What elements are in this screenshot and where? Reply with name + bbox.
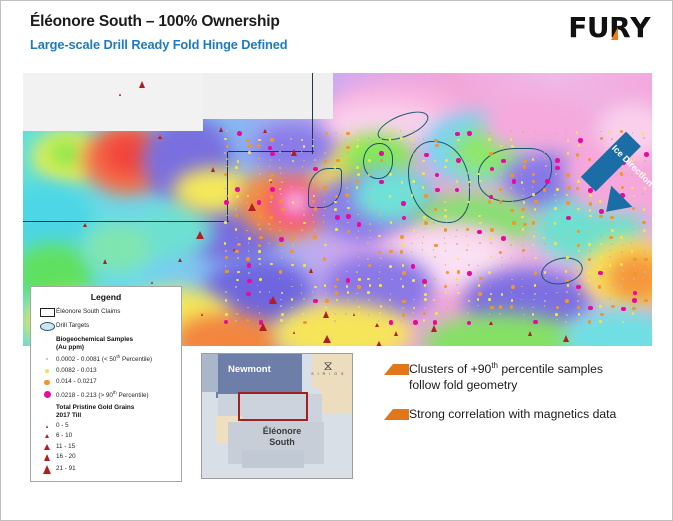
legend-label-claims: Éléonore South Claims: [56, 309, 120, 315]
legend-heading-grains: Total Pristine Gold Grains 2017 Till: [56, 404, 174, 420]
logo-text-r-wrap: R: [609, 14, 630, 42]
slide-root: Éléonore South – 100% Ownership Large-sc…: [0, 0, 673, 521]
legend-row-biogeo-2: 0.014 - 0.0217: [38, 379, 174, 385]
legend-label-drill-targets: Drill Targets: [56, 323, 89, 329]
bullet-1-part3: follow fold geometry: [409, 378, 517, 392]
till-sample-triangle: [309, 268, 313, 273]
till-sample-triangle: [269, 296, 277, 304]
sirios-logo-name: S I R I O S: [311, 372, 345, 376]
page-title: Éléonore South – 100% Ownership: [30, 13, 280, 31]
gold-grain-triangle-icon: [38, 454, 56, 461]
inset-block-left: [202, 354, 218, 392]
bullet-text-1: Clusters of +90th percentile samplesfoll…: [409, 361, 603, 393]
list-item: Strong correlation with magnetics data: [384, 406, 656, 422]
list-item: Clusters of +90th percentile samplesfoll…: [384, 361, 656, 393]
legend-label-biogeo-0: 0.0002 - 0.0081 (< 50th Percentile): [56, 355, 152, 363]
till-sample-triangle: [259, 323, 267, 331]
inset-label-eleonore-south: Éléonore South: [250, 426, 314, 449]
map-legend: Legend Éléonore South Claims Drill Targe…: [30, 286, 182, 482]
till-sample-triangle: [196, 231, 204, 239]
legend-label-grains-4: 21 - 91: [56, 466, 76, 472]
gold-grain-triangle-icon: [38, 425, 56, 428]
inset-block-grey-bottom: [242, 450, 304, 468]
key-points-list: Clusters of +90th percentile samplesfoll…: [384, 361, 656, 435]
legend-heading-biogeo-line2: (Au ppm): [56, 344, 174, 352]
till-sample-triangle: [139, 81, 145, 88]
till-sample-triangle: [151, 281, 153, 284]
till-sample-triangle: [263, 129, 267, 133]
till-sample-triangle: [158, 135, 162, 139]
bullet-text-2: Strong correlation with magnetics data: [409, 406, 616, 422]
bullet-1-superscript: th: [491, 361, 498, 370]
till-sample-triangle: [248, 203, 256, 211]
sirios-logo: ⧖ S I R I O S: [311, 360, 345, 376]
bullet-marker-icon: [384, 364, 409, 375]
legend-row-drill-targets: Drill Targets: [38, 322, 174, 331]
legend-row-grains-1: 6 - 10: [38, 433, 174, 439]
logo-text-fu: FU: [568, 11, 609, 44]
till-sample-triangle: [489, 321, 493, 325]
legend-heading-grains-line2: 2017 Till: [56, 412, 174, 420]
inset-label-south: South: [250, 437, 314, 448]
till-sample-triangle: [83, 223, 87, 227]
bullet-marker-icon: [384, 409, 409, 420]
claims-symbol-icon: [38, 308, 56, 317]
logo-accent-triangle-icon: [611, 27, 618, 40]
gold-grain-triangle-icon: [38, 434, 56, 438]
legend-label-grains-2: 11 - 15: [56, 444, 75, 450]
inset-block-sand-right2: [320, 388, 353, 414]
till-sample-triangle: [431, 325, 437, 332]
gold-grain-triangle-icon: [38, 465, 56, 474]
inset-label-newmont: Newmont: [228, 364, 271, 375]
legend-row-claims: Éléonore South Claims: [38, 308, 174, 317]
legend-label-biogeo-2: 0.014 - 0.0217: [56, 379, 97, 385]
till-sample-triangle: [353, 313, 355, 316]
gold-grain-triangle-icon: [38, 444, 56, 450]
logo-text-y: Y: [630, 11, 650, 44]
biogeo-dot-icon: [38, 369, 56, 373]
biogeo-dot-icon: [38, 391, 56, 398]
till-sample-triangle: [293, 331, 295, 334]
till-sample-triangle: [233, 248, 235, 251]
legend-row-biogeo-3: 0.0218 - 0.213 (> 90th Percentile): [38, 391, 174, 399]
till-sample-triangle: [563, 335, 569, 342]
page-subtitle: Large-scale Drill Ready Fold Hinge Defin…: [30, 37, 288, 52]
biogeo-dot-icon: [38, 358, 56, 360]
legend-label-grains-1: 6 - 10: [56, 433, 72, 439]
legend-grain-rows: 0 - 56 - 1011 - 1516 - 2021 - 91: [38, 423, 174, 474]
legend-heading-grains-line1: Total Pristine Gold Grains: [56, 404, 174, 412]
legend-row-grains-2: 11 - 15: [38, 444, 174, 450]
legend-row-biogeo-1: 0.0082 - 0.013: [38, 368, 174, 374]
legend-label-biogeo-3: 0.0218 - 0.213 (> 90th Percentile): [56, 391, 149, 399]
drill-target-symbol-icon: [38, 322, 56, 331]
legend-label-biogeo-1: 0.0082 - 0.013: [56, 368, 97, 374]
fury-logo: FURY: [568, 14, 650, 42]
biogeo-dot-icon: [38, 380, 56, 385]
till-sample-triangle: [270, 180, 272, 183]
legend-label-grains-0: 0 - 5: [56, 423, 69, 429]
inset-area-of-interest-box: [238, 392, 308, 421]
legend-label-grains-3: 16 - 20: [56, 454, 76, 460]
till-sample-triangle: [219, 127, 223, 132]
till-sample-triangle: [201, 313, 203, 316]
till-sample-triangle: [323, 311, 329, 318]
legend-row-biogeo-0: 0.0002 - 0.0081 (< 50th Percentile): [38, 355, 174, 363]
legend-heading-biogeo: Biogeochemical Samples (Au ppm): [56, 336, 174, 352]
till-sample-triangle: [119, 93, 121, 96]
till-sample-triangle: [528, 331, 532, 336]
legend-row-grains-3: 16 - 20: [38, 454, 174, 461]
till-sample-triangle: [323, 335, 331, 343]
till-sample-triangle: [291, 149, 297, 156]
bullet-1-part2: percentile samples: [498, 362, 603, 376]
bullet-1-part1: Clusters of +90: [409, 362, 491, 376]
till-sample-triangle: [103, 259, 107, 264]
till-sample-triangle: [375, 323, 379, 327]
till-sample-triangle: [375, 341, 383, 346]
location-inset-map[interactable]: Newmont Éléonore South ⧖ S I R I O S: [201, 353, 353, 479]
legend-biogeo-rows: 0.0002 - 0.0081 (< 50th Percentile)0.008…: [38, 355, 174, 399]
legend-title: Legend: [38, 293, 174, 302]
sirios-mark-icon: ⧖: [311, 360, 345, 372]
inset-label-eleonore: Éléonore: [250, 426, 314, 437]
till-sample-triangle: [394, 331, 398, 336]
legend-heading-biogeo-line1: Biogeochemical Samples: [56, 336, 174, 344]
legend-row-grains-0: 0 - 5: [38, 423, 174, 429]
till-sample-triangle: [178, 258, 182, 262]
till-sample-triangle: [211, 167, 215, 172]
legend-row-grains-4: 21 - 91: [38, 465, 174, 474]
